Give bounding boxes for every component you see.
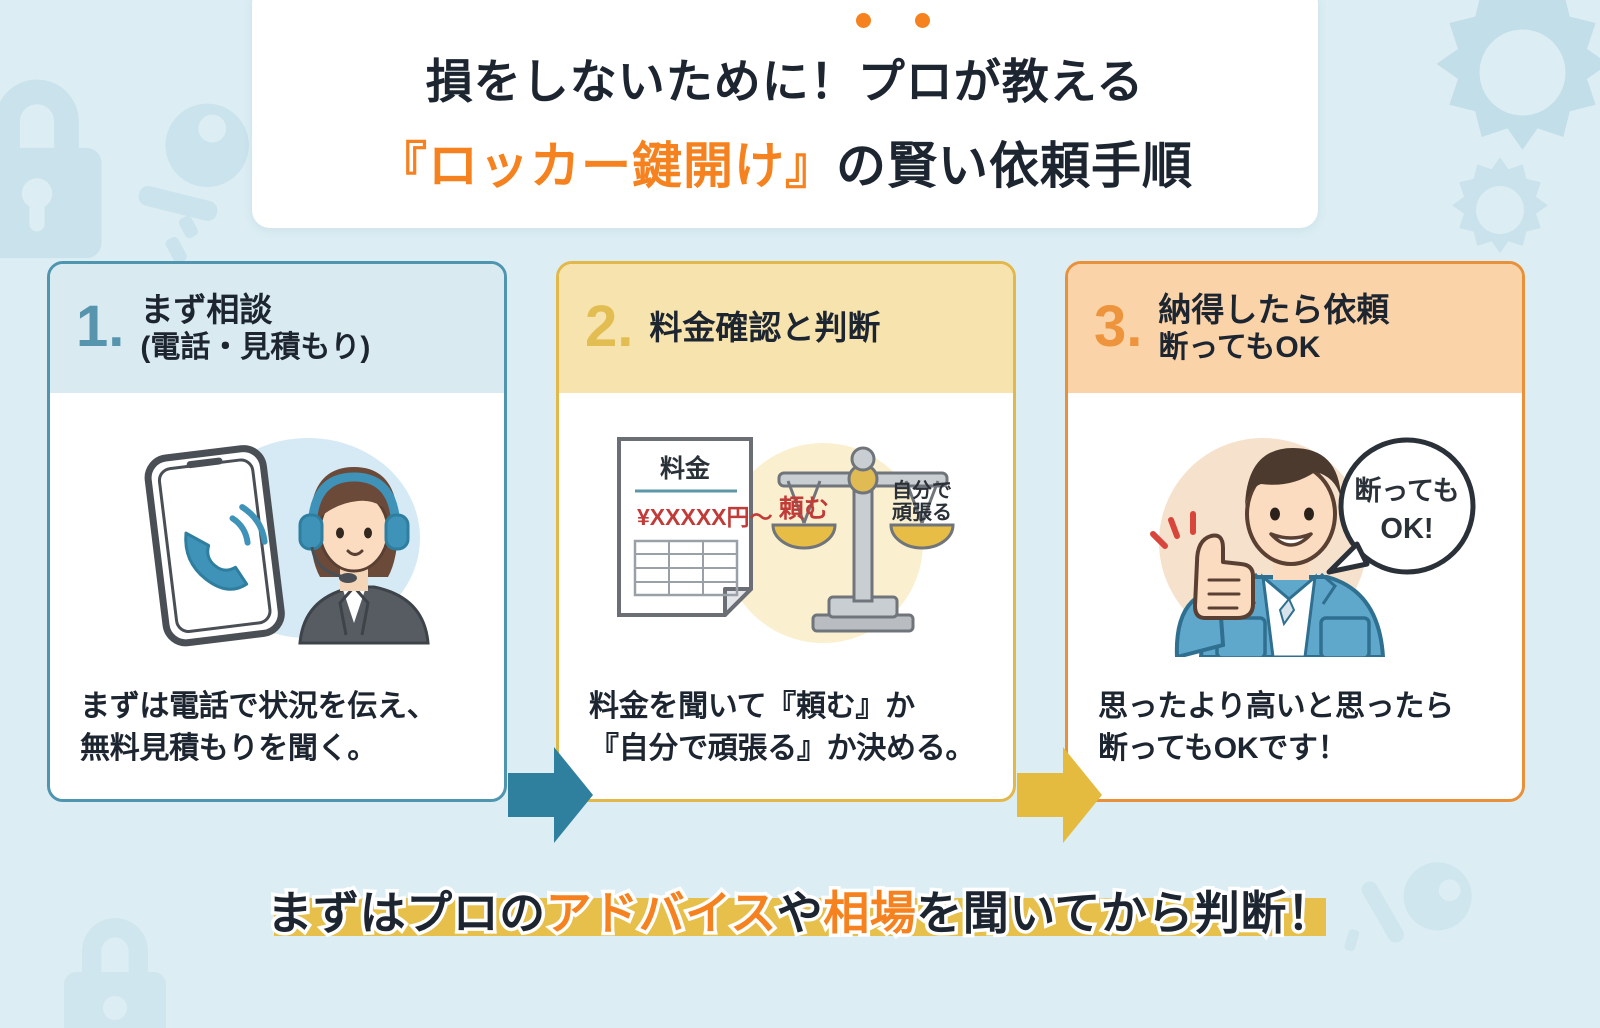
step-2-body-line2: 『自分で頑張る』か決める。 — [589, 728, 991, 769]
step-3-title: 納得したら依頼 断ってもOK — [1158, 290, 1389, 367]
step-1-title-text: まず相談 — [140, 291, 272, 328]
step-1-illustration — [50, 393, 504, 686]
title-line1-text: 損をしないために！プロが教える — [426, 55, 1145, 108]
title-line2-rest: の賢い依頼手順 — [836, 138, 1193, 194]
step-card-1: 1. まず相談 (電話・見積もり) — [47, 261, 507, 802]
banner-part3: を聞いてから判断！ — [916, 887, 1333, 939]
step-1-body: まずは電話で状況を伝え、 無料見積もりを聞く。 — [50, 686, 504, 799]
banner-highlight2: 相場 — [823, 887, 916, 939]
page-title-line2: 『ロッカー鍵開け』の賢い依頼手順 — [377, 126, 1193, 198]
thumbs-up-worker-icon: 断っても OK! — [1105, 422, 1485, 657]
gear-icon — [1440, 150, 1560, 270]
step-1-header: 1. まず相談 (電話・見積もり) — [50, 264, 504, 393]
svg-text:OK!: OK! — [1380, 513, 1433, 545]
step-card-3: 3. 納得したら依頼 断ってもOK — [1065, 261, 1525, 802]
page-title-line1: 損をしないために！プロが教える — [426, 43, 1145, 112]
step-2-body: 料金を聞いて『頼む』か 『自分で頑張る』か決める。 — [559, 686, 1013, 799]
title-card: 損をしないために！プロが教える 『ロッカー鍵開け』の賢い依頼手順 — [252, 0, 1318, 228]
steps-container: 1. まず相談 (電話・見積もり) — [0, 261, 1600, 806]
svg-text:¥XXXXX円〜: ¥XXXXX円〜 — [637, 504, 773, 530]
step-3-subtitle-text: 断ってもOK — [1158, 330, 1389, 367]
step-2-body-line1: 料金を聞いて『頼む』か — [589, 686, 991, 727]
svg-text:頼む: 頼む — [779, 495, 829, 523]
banner-highlight1: アドバイス — [546, 887, 777, 939]
step-1-body-line2: 無料見積もりを聞く。 — [80, 728, 482, 769]
step-1-number: 1. — [76, 298, 124, 360]
svg-text:頑張る: 頑張る — [891, 501, 952, 524]
lock-icon — [0, 60, 132, 270]
svg-text:自分で: 自分で — [892, 478, 952, 502]
phone-operator-icon — [112, 425, 442, 655]
arrow-step2-to-step3 — [1017, 747, 1102, 843]
step-card-2: 2. 料金確認と判断 料金 ¥XXXXX円〜 — [556, 261, 1016, 802]
step-3-body-line1: 思ったより高いと思ったら — [1098, 686, 1500, 727]
step-1-subtitle-text: (電話・見積もり) — [140, 330, 370, 367]
svg-text:料金: 料金 — [660, 454, 711, 483]
step-3-title-text: 納得したら依頼 — [1158, 291, 1389, 328]
bottom-banner: まずはプロのアドバイスや相場を聞いてから判断！ — [0, 862, 1600, 958]
step-1-title: まず相談 (電話・見積もり) — [140, 290, 370, 367]
step-3-body: 思ったより高いと思ったら 断ってもOKです！ — [1068, 686, 1522, 799]
step-1-body-line1: まずは電話で状況を伝え、 — [80, 686, 482, 727]
step-2-title-text: 料金確認と判断 — [649, 309, 880, 346]
title-highlight-text: 『ロッカー鍵開け』 — [377, 138, 836, 194]
step-2-number: 2. — [585, 298, 633, 360]
step-3-body-line2: 断ってもOKです！ — [1098, 728, 1500, 769]
invoice-scale-icon: 料金 ¥XXXXX円〜 — [591, 425, 981, 655]
banner-part2: や — [777, 887, 824, 939]
step-3-number: 3. — [1094, 298, 1142, 360]
emphasis-dots-icon — [856, 13, 930, 28]
step-2-illustration: 料金 ¥XXXXX円〜 — [559, 393, 1013, 686]
step-2-title: 料金確認と判断 — [649, 308, 880, 348]
gear-icon — [1415, 0, 1600, 180]
arrow-step1-to-step2 — [508, 747, 593, 843]
step-2-header: 2. 料金確認と判断 — [559, 264, 1013, 393]
step-3-header: 3. 納得したら依頼 断ってもOK — [1068, 264, 1522, 393]
banner-part1: まずはプロの — [267, 887, 546, 939]
svg-text:断っても: 断っても — [1354, 476, 1459, 506]
step-3-illustration: 断っても OK! — [1068, 393, 1522, 686]
banner-text: まずはプロのアドバイスや相場を聞いてから判断！ — [267, 877, 1334, 943]
